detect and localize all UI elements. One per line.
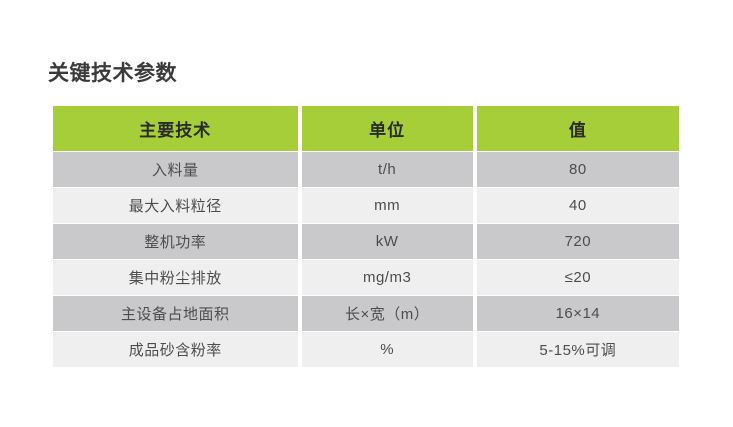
table-row: 最大入料粒径 mm 40 (53, 188, 679, 223)
page-title: 关键技术参数 (48, 61, 177, 86)
cell-tech: 整机功率 (53, 224, 298, 259)
table-header: 主要技术 单位 值 (53, 106, 679, 151)
cell-value: ≤20 (477, 260, 679, 295)
column-header-tech: 主要技术 (53, 106, 298, 151)
cell-tech: 入料量 (53, 152, 298, 187)
column-header-unit: 单位 (302, 106, 473, 151)
cell-value: 5-15%可调 (477, 332, 679, 367)
cell-unit: % (302, 332, 473, 367)
key-technical-parameters-table: 主要技术 单位 值 入料量 t/h 80 最大入料粒径 mm 40 整机功率 k… (49, 105, 683, 368)
cell-value: 80 (477, 152, 679, 187)
table-row: 集中粉尘排放 mg/m3 ≤20 (53, 260, 679, 295)
cell-value: 40 (477, 188, 679, 223)
cell-value: 16×14 (477, 296, 679, 331)
table-row: 主设备占地面积 长×宽（m） 16×14 (53, 296, 679, 331)
cell-unit: mm (302, 188, 473, 223)
table-row: 入料量 t/h 80 (53, 152, 679, 187)
cell-tech: 集中粉尘排放 (53, 260, 298, 295)
column-header-value: 值 (477, 106, 679, 151)
table-row: 成品砂含粉率 % 5-15%可调 (53, 332, 679, 367)
cell-tech: 主设备占地面积 (53, 296, 298, 331)
cell-tech: 成品砂含粉率 (53, 332, 298, 367)
cell-unit: t/h (302, 152, 473, 187)
table-row: 整机功率 kW 720 (53, 224, 679, 259)
cell-unit: mg/m3 (302, 260, 473, 295)
cell-tech: 最大入料粒径 (53, 188, 298, 223)
cell-value: 720 (477, 224, 679, 259)
table-body: 入料量 t/h 80 最大入料粒径 mm 40 整机功率 kW 720 集中粉尘… (53, 152, 679, 367)
cell-unit: 长×宽（m） (302, 296, 473, 331)
cell-unit: kW (302, 224, 473, 259)
table-header-row: 主要技术 单位 值 (53, 106, 679, 151)
